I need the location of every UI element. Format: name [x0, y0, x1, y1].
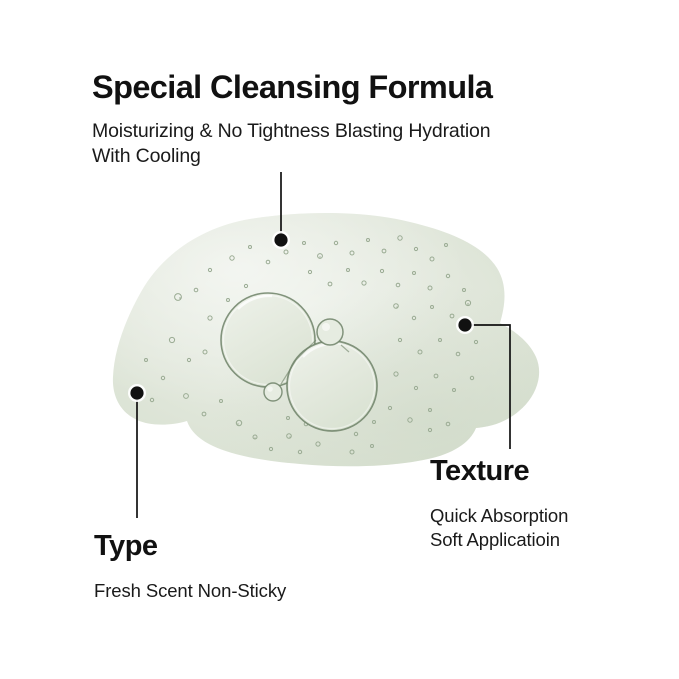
leader-texture [467, 325, 510, 449]
micro-bubble-specks [179, 256, 469, 439]
callout-texture-line-2: Soft Applicatioin [430, 528, 568, 552]
callout-dot-texture [456, 316, 474, 334]
page-title: Special Cleansing Formula [92, 70, 612, 104]
callout-dot-type [128, 384, 146, 402]
small-bubble-bottom [264, 383, 282, 401]
infographic-canvas: Special Cleansing Formula Moisturizing &… [0, 0, 679, 679]
page-subtitle: Moisturizing & No Tightness Blasting Hyd… [92, 119, 592, 169]
large-bubble-left [221, 293, 315, 387]
subtitle-line-1: Moisturizing & No Tightness Blasting Hyd… [92, 119, 592, 144]
bubble-cluster [221, 293, 377, 431]
callout-dot-formula [272, 231, 290, 249]
callout-texture-line-1: Quick Absorption [430, 504, 568, 528]
bubble-film-lines [281, 340, 349, 384]
callout-title-texture: Texture [430, 456, 529, 486]
large-bubble-right [287, 341, 377, 431]
micro-bubble-texture [145, 236, 478, 454]
callout-dots [128, 231, 474, 402]
callout-body-texture: Quick Absorption Soft Applicatioin [430, 504, 568, 552]
callout-body-type: Fresh Scent Non-Sticky [94, 579, 286, 603]
blob-body [100, 200, 560, 480]
callout-title-type: Type [94, 531, 158, 561]
small-bubble-top [317, 319, 343, 345]
callout-type-line-1: Fresh Scent Non-Sticky [94, 579, 286, 603]
subtitle-line-2: With Cooling [92, 144, 592, 169]
